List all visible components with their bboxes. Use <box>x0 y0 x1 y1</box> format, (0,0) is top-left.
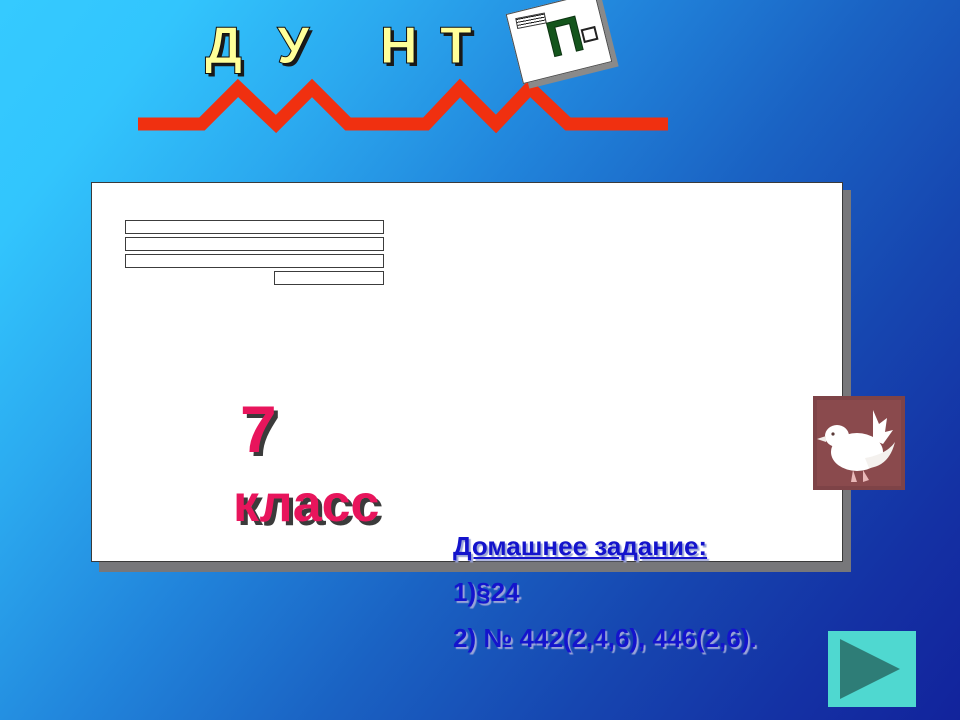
grade-word: класс <box>233 478 379 530</box>
decorative-bar-2 <box>125 237 384 251</box>
title-letter-n: Н <box>380 20 418 72</box>
decorative-bar-1 <box>125 220 384 234</box>
title-letter-t: Т <box>440 20 472 72</box>
content-panel: 7 класс Домашнее задание: 1)§24 2) № 442… <box>91 182 843 562</box>
zigzag-underline-icon <box>130 78 670 133</box>
homework-item-1: 1)§24 <box>453 577 923 607</box>
decorative-bars <box>125 220 415 288</box>
grade-number: 7 <box>240 396 277 462</box>
title-letter-u: У <box>277 20 309 72</box>
play-triangle-icon <box>840 639 900 699</box>
decorative-bar-4 <box>274 271 384 285</box>
next-slide-button[interactable] <box>828 631 916 707</box>
pi-letter-card: П <box>506 0 613 84</box>
title-letter-p: П <box>541 8 588 65</box>
homework-heading: Домашнее задание: <box>453 531 923 561</box>
slide-title-band: Д У Н Т П <box>0 0 960 140</box>
decorative-bar-3 <box>125 254 384 268</box>
dove-photo <box>813 396 905 490</box>
presentation-slide: Д У Н Т П <box>0 0 960 720</box>
title-letter-d: Д <box>205 20 242 72</box>
